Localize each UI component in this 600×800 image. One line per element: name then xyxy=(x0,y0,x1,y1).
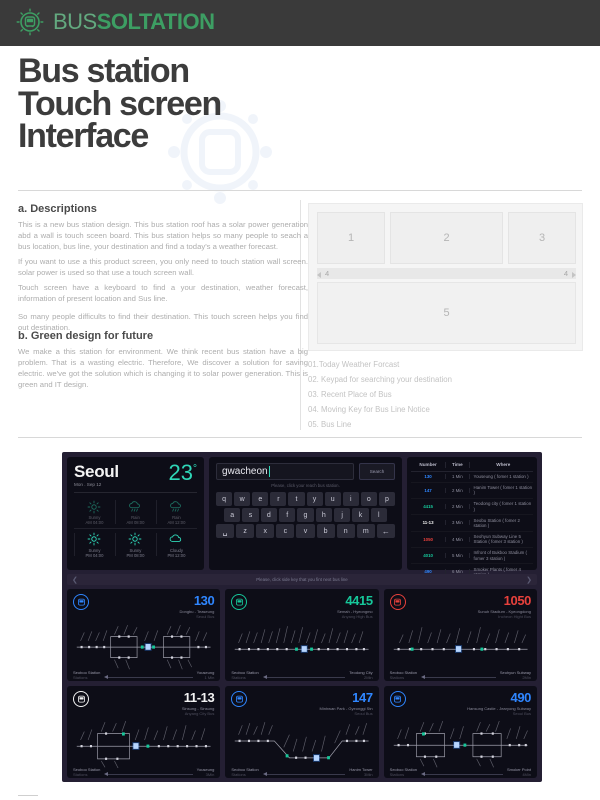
table-row[interactable]: 130 1 Min Youseung ( fomer 1 station ) xyxy=(411,472,533,483)
logo[interactable]: BUSSOLTATION xyxy=(14,6,214,38)
weather-cell[interactable]: SunnyAM 04:00 xyxy=(74,496,115,528)
key-b[interactable]: b xyxy=(317,524,335,538)
weather-widget[interactable]: Seoul Mon . Sep 12 23° SunnyAM 04:00 xyxy=(67,457,204,570)
destination-sub: 2Min xyxy=(349,676,372,681)
bus-line-row: 130 Dongbu - TeaseungSeoul Bus xyxy=(67,589,537,681)
key-y[interactable]: y xyxy=(307,492,323,506)
origin-label: Seoboo StationStations xyxy=(231,768,258,778)
bus-type: Incheon Hight Bus xyxy=(478,614,531,619)
section-green-design: b. Green design for future We make a thi… xyxy=(18,330,308,395)
card-title-group: 1050 Sunuh Stadium - KyeongdongIncheon H… xyxy=(478,594,531,619)
search-input-value: gwacheon xyxy=(222,466,268,477)
card-footer: Seoboo StationStations Smoker Point4Min xyxy=(390,768,531,778)
key-i[interactable]: i xyxy=(343,492,359,506)
keypad-hint: Please, click your reach bus station. xyxy=(216,483,395,488)
weather-cell[interactable]: RainAM 12:00 xyxy=(156,496,197,528)
table-row[interactable]: 4415 2 Min Teodong city ( fomer 1 statio… xyxy=(411,499,533,515)
page-title-line2: Touch screen xyxy=(18,88,438,121)
wireframe-bar-label-right: 4 xyxy=(564,269,568,278)
rain-icon xyxy=(115,499,156,514)
wireframe-box-3: 3 xyxy=(508,212,576,264)
origin-label: Seoboo StationStations xyxy=(73,768,100,778)
bus-line-card[interactable]: 1050 Sunuh Stadium - KyeongdongIncheon H… xyxy=(384,589,537,681)
site-header: BUSSOLTATION xyxy=(0,0,600,46)
weather-cell-label: SunnyPM 08:00 xyxy=(115,548,156,559)
bus-type: Seoul Bus xyxy=(467,711,531,716)
table-row[interactable]: 11-13 3 Min Seobu Station ( fomer 2 stat… xyxy=(411,515,533,531)
slider-track xyxy=(267,677,346,678)
wireframe-box-1: 1 xyxy=(317,212,385,264)
weather-time: PM 04:00 xyxy=(74,553,115,558)
card-footer: Seoboo StationStations Teodong City2Min xyxy=(231,671,372,681)
weather-time: AM 12:00 xyxy=(156,520,197,525)
wireframe-legend: 01.Today Weather Forcast 02. Keypad for … xyxy=(308,357,583,432)
legend-item-3: 03. Recent Place of Bus xyxy=(308,387,583,402)
route-map xyxy=(231,623,372,671)
page-title-line1: Bus station xyxy=(18,55,438,88)
key-backspace[interactable]: ← xyxy=(377,524,395,538)
cloud-icon xyxy=(156,532,197,547)
table-row[interactable]: 4010 5 Min Infront of Bukboo Stadium ( f… xyxy=(411,548,533,564)
key-space[interactable]: ␣ xyxy=(216,524,234,538)
cell-time: 4 Min xyxy=(445,537,469,542)
key-g[interactable]: g xyxy=(297,508,313,522)
weather-time: AM 04:00 xyxy=(74,520,115,525)
route-map xyxy=(73,720,214,768)
column-time: Time xyxy=(445,462,469,468)
cell-where: Seobu Station ( fomer 2 station ) xyxy=(470,518,533,529)
card-title-group: 130 Dongbu - TeaseungSeoul Bus xyxy=(179,594,214,619)
wireframe-top-row: 1 2 3 xyxy=(317,212,576,264)
bus-line-row: 11-13 Sinsung - SinsungAnyang City Bus xyxy=(67,686,537,778)
cell-number: 11-13 xyxy=(411,520,445,525)
divider-bottom xyxy=(18,437,582,438)
keyboard-row: q w e r t y u i o p xyxy=(216,492,395,506)
bus-line-cards: 130 Dongbu - TeaseungSeoul Bus xyxy=(67,589,537,778)
key-u[interactable]: u xyxy=(325,492,341,506)
weather-cell[interactable]: SunnyPM 04:00 xyxy=(74,528,115,561)
search-bar: gwacheon Search xyxy=(216,463,395,480)
bus-line-card[interactable]: 11-13 Sinsung - SinsungAnyang City Bus xyxy=(67,686,220,778)
weather-forecast-grid: SunnyAM 04:00 RainAM 08:00 RainAM 12:00 xyxy=(74,496,197,560)
bus-number: 490 xyxy=(467,691,531,704)
key-e[interactable]: e xyxy=(252,492,268,506)
divider-hint-text: Please, click side key that you fint nex… xyxy=(256,577,348,582)
bus-route: Sinsung - SinsungAnyang City Bus xyxy=(182,706,214,716)
origin-label: Seoboo StationStations xyxy=(390,671,417,681)
key-r[interactable]: r xyxy=(270,492,286,506)
column-where: Where xyxy=(470,462,533,468)
legend-item-1: 01.Today Weather Forcast xyxy=(308,357,583,372)
footer-rule xyxy=(18,795,38,796)
progress-slider[interactable] xyxy=(421,772,503,777)
sun-icon xyxy=(115,532,156,547)
key-j[interactable]: j xyxy=(334,508,350,522)
weather-temp-value: 23 xyxy=(169,460,193,485)
wireframe-arrow-right-icon[interactable] xyxy=(572,272,576,278)
weather-cell[interactable]: CloudyPM 12:00 xyxy=(156,528,197,561)
bus-route: Dongbu - TeaseungSeoul Bus xyxy=(179,609,214,619)
legend-item-2: 02. Keypad for searching your destinatio… xyxy=(308,372,583,387)
bus-type: Seoul Bus xyxy=(179,614,214,619)
table-row[interactable]: 1050 4 Min Seohyun Subway Line 5 Station… xyxy=(411,532,533,548)
wireframe-box-5: 5 xyxy=(317,282,576,344)
section-b-p1: We make a this station for environment. … xyxy=(18,347,308,391)
weather-time: PM 12:00 xyxy=(156,553,197,558)
bus-badge-icon xyxy=(390,594,406,610)
route-text: Semah - Hyeongmo xyxy=(337,609,373,614)
key-c[interactable]: c xyxy=(276,524,294,538)
key-p[interactable]: p xyxy=(379,492,395,506)
key-m[interactable]: m xyxy=(357,524,375,538)
origin-sub: Stations xyxy=(390,676,417,681)
slider-knob[interactable] xyxy=(263,772,267,776)
keyboard-row: ␣ z x c v b n m ← xyxy=(216,524,395,538)
bus-badge-icon xyxy=(73,691,89,707)
weather-date: Mon . Sep 12 xyxy=(74,482,119,487)
legend-item-5: 05. Bus Line xyxy=(308,417,583,432)
section-descriptions: a. Descriptions This is a new bus statio… xyxy=(18,203,308,337)
cell-where: Youseung ( fomer 1 station ) xyxy=(470,474,533,479)
sun-icon xyxy=(74,532,115,547)
destination-sub: 4Min xyxy=(507,773,531,778)
origin-sub: Stations xyxy=(73,676,100,681)
progress-slider[interactable] xyxy=(421,675,496,680)
card-title-group: 4415 Semah - HyeongmoAnyang High Bus xyxy=(337,594,373,619)
chevron-left-icon[interactable]: ❮ xyxy=(72,576,78,584)
cell-where: Seohyun Subway Line 5 Station ( fomer 3 … xyxy=(470,534,533,545)
card-title-group: 11-13 Sinsung - SinsungAnyang City Bus xyxy=(182,691,214,716)
bus-route: Hansung Castle - Jearyong SubwaySeoul Bu… xyxy=(467,706,531,716)
bus-number: 1050 xyxy=(478,594,531,607)
origin-label: Seoboo StationStations xyxy=(231,671,258,681)
bus-badge-icon xyxy=(390,691,406,707)
cell-time: 1 Min xyxy=(445,474,469,479)
weather-header: Seoul Mon . Sep 12 23° xyxy=(74,463,197,487)
bus-line-card[interactable]: 147 Minhwan Park - Gyeonggi StnSeoul Bus xyxy=(225,686,378,778)
wireframe-bar-label-left: 4 xyxy=(325,269,329,278)
bus-badge-icon xyxy=(231,594,247,610)
key-t[interactable]: t xyxy=(288,492,304,506)
route-text: Hansung Castle - Jearyong Subway xyxy=(467,706,531,711)
origin-sub: Stations xyxy=(231,773,258,778)
weather-cell[interactable]: SunnyPM 08:00 xyxy=(115,528,156,561)
destination-label: Seohyun Subway2Min xyxy=(500,671,531,681)
origin-label: Seoboo StationStations xyxy=(390,768,417,778)
cell-time: 5 Min xyxy=(445,553,469,558)
destination-label: Smoker Point4Min xyxy=(507,768,531,778)
destination-sub: 1 Min xyxy=(197,676,215,681)
weather-separator xyxy=(74,492,197,493)
divider-top xyxy=(18,190,582,191)
key-k[interactable]: k xyxy=(352,508,368,522)
table-header: Number Time Where xyxy=(411,462,533,472)
cell-where: Infront of Bukboo Stadium ( fomer 3 stat… xyxy=(470,550,533,561)
touchscreen-panel: Seoul Mon . Sep 12 23° SunnyAM 04:00 xyxy=(62,452,542,782)
weather-degree-symbol: ° xyxy=(193,464,197,475)
wireframe-arrow-left-icon[interactable] xyxy=(317,272,321,278)
key-d[interactable]: d xyxy=(261,508,277,522)
card-header: 490 Hansung Castle - Jearyong SubwaySeou… xyxy=(390,691,531,716)
section-a-heading: a. Descriptions xyxy=(18,203,308,215)
bus-route: Minhwan Park - Gyeonggi StnSeoul Bus xyxy=(320,706,373,716)
key-q[interactable]: q xyxy=(216,492,232,506)
cell-where: Teodong city ( fomer 1 station ) xyxy=(470,501,533,512)
weather-cell-label: CloudyPM 12:00 xyxy=(156,548,197,559)
wireframe-box-2: 2 xyxy=(390,212,503,264)
key-f[interactable]: f xyxy=(279,508,295,522)
keyboard-row: a s d f g h j k l xyxy=(216,508,395,522)
route-map xyxy=(390,720,531,768)
bus-badge-icon xyxy=(231,691,247,707)
section-a-p1: This is a new bus station design. This b… xyxy=(18,220,308,253)
card-footer: Seoboo StationStations Youseung1 Min xyxy=(73,671,214,681)
key-h[interactable]: h xyxy=(316,508,332,522)
cell-number: 4010 xyxy=(411,553,445,558)
progress-slider[interactable] xyxy=(263,675,346,680)
bus-type: Seoul Bus xyxy=(320,711,373,716)
card-header: 130 Dongbu - TeaseungSeoul Bus xyxy=(73,594,214,619)
slider-knob[interactable] xyxy=(104,675,108,679)
bus-badge-icon xyxy=(73,594,89,610)
cell-time: 2 Min xyxy=(445,504,469,509)
origin-sub: Stations xyxy=(231,676,258,681)
bus-line-card[interactable]: 4415 Semah - HyeongmoAnyang High Bus xyxy=(225,589,378,681)
weather-cell[interactable]: RainAM 08:00 xyxy=(115,496,156,528)
progress-slider[interactable] xyxy=(104,772,192,777)
key-a[interactable]: a xyxy=(224,508,240,522)
key-z[interactable]: z xyxy=(236,524,254,538)
slider-track xyxy=(425,677,496,678)
slider-knob[interactable] xyxy=(263,675,267,679)
cell-number: 4415 xyxy=(411,504,445,509)
slider-knob[interactable] xyxy=(104,772,108,776)
cell-where: Hanim Tower ( fomer 1 station ) xyxy=(470,485,533,496)
weather-cell-label: SunnyAM 04:00 xyxy=(74,515,115,526)
slider-track xyxy=(108,774,192,775)
logo-text-soltation: SOLTATION xyxy=(97,9,215,34)
route-map xyxy=(231,720,372,768)
card-header: 11-13 Sinsung - SinsungAnyang City Bus xyxy=(73,691,214,716)
rain-icon xyxy=(156,499,197,514)
bus-type: Anyang High Bus xyxy=(337,614,373,619)
card-header: 147 Minhwan Park - Gyeonggi StnSeoul Bus xyxy=(231,691,372,716)
bus-number: 147 xyxy=(320,691,373,704)
route-text: Sinsung - Sinsung xyxy=(182,706,214,711)
key-l[interactable]: l xyxy=(371,508,387,522)
cell-time: 3 Min xyxy=(445,520,469,525)
weather-cell-label: RainAM 12:00 xyxy=(156,515,197,526)
weather-temperature: 23° xyxy=(169,463,197,484)
search-input[interactable]: gwacheon xyxy=(216,463,354,480)
key-w[interactable]: w xyxy=(234,492,250,506)
section-a-p2: If you want to use a this product screen… xyxy=(18,257,308,279)
origin-label: Seoboo StationStations xyxy=(73,671,100,681)
destination-label: Youseung3Min xyxy=(197,768,215,778)
card-header: 1050 Sunuh Stadium - KyeongdongIncheon H… xyxy=(390,594,531,619)
card-footer: Seoboo StationStations Seohyun Subway2Mi… xyxy=(390,671,531,681)
legend-item-4: 04. Moving Key for Bus Line Notice xyxy=(308,402,583,417)
route-text: Sunuh Stadium - Kyeongdong xyxy=(478,609,531,614)
bus-number: 4415 xyxy=(337,594,373,607)
card-title-group: 147 Minhwan Park - Gyeonggi StnSeoul Bus xyxy=(320,691,373,716)
keypad-widget: gwacheon Search Please, click your reach… xyxy=(209,457,402,570)
destination-label: Teodong City2Min xyxy=(349,671,372,681)
logo-text-bus: BUS xyxy=(53,9,97,34)
route-map xyxy=(390,623,531,671)
bus-type: Anyang City Bus xyxy=(182,711,214,716)
progress-slider[interactable] xyxy=(104,675,192,680)
key-s[interactable]: s xyxy=(242,508,258,522)
destination-label: Youseung1 Min xyxy=(197,671,215,681)
origin-sub: Stations xyxy=(73,773,100,778)
card-header: 4415 Semah - HyeongmoAnyang High Bus xyxy=(231,594,372,619)
section-a-p3: Touch screen have a keyboard to find a y… xyxy=(18,283,308,305)
wireframe-scroll-bar[interactable]: 4 4 xyxy=(317,268,576,279)
cell-number: 1050 xyxy=(411,537,445,542)
key-v[interactable]: v xyxy=(296,524,314,538)
cell-number: 130 xyxy=(411,474,445,479)
bus-route: Sunuh Stadium - KyeongdongIncheon Hight … xyxy=(478,609,531,619)
route-text: Minhwan Park - Gyeonggi Stn xyxy=(320,706,373,711)
route-map xyxy=(73,623,214,671)
bus-route: Semah - HyeongmoAnyang High Bus xyxy=(337,609,373,619)
search-button[interactable]: Search xyxy=(359,463,395,480)
slider-track xyxy=(267,774,346,775)
weather-time: AM 08:00 xyxy=(115,520,156,525)
progress-slider[interactable] xyxy=(263,772,346,777)
destination-label: Hanim Tower3Min xyxy=(349,768,372,778)
bus-number: 11-13 xyxy=(182,691,214,704)
slider-knob[interactable] xyxy=(421,675,425,679)
virtual-keyboard: q w e r t y u i o p a s d xyxy=(216,492,395,538)
slider-track xyxy=(425,774,503,775)
weather-cell-label: RainAM 08:00 xyxy=(115,515,156,526)
destination-sub: 3Min xyxy=(197,773,215,778)
column-number: Number xyxy=(411,462,445,468)
card-title-group: 490 Hansung Castle - Jearyong SubwaySeou… xyxy=(467,691,531,716)
panel-top-row: Seoul Mon . Sep 12 23° SunnyAM 04:00 xyxy=(67,457,537,570)
page-root: BUSSOLTATION Bus station Touch screen In… xyxy=(0,0,600,800)
page-title: Bus station Touch screen Interface xyxy=(18,55,438,153)
card-footer: Seoboo StationStations Youseung3Min xyxy=(73,768,214,778)
key-n[interactable]: n xyxy=(337,524,355,538)
origin-sub: Stations xyxy=(390,773,417,778)
bus-number: 130 xyxy=(179,594,214,607)
table-row[interactable]: 147 2 Min Hanim Tower ( fomer 1 station … xyxy=(411,483,533,499)
weather-cell-label: SunnyPM 04:00 xyxy=(74,548,115,559)
slider-knob[interactable] xyxy=(421,772,425,776)
weather-time: PM 08:00 xyxy=(115,553,156,558)
slider-track xyxy=(108,677,192,678)
wireframe-diagram: 1 2 3 4 4 5 xyxy=(308,203,583,351)
bus-line-card[interactable]: 130 Dongbu - TeaseungSeoul Bus xyxy=(67,589,220,681)
text-caret xyxy=(269,466,270,477)
key-o[interactable]: o xyxy=(361,492,377,506)
sun-icon xyxy=(74,499,115,514)
chevron-right-icon[interactable]: ❯ xyxy=(526,576,532,584)
section-b-heading: b. Green design for future xyxy=(18,330,308,342)
cell-number: 147 xyxy=(411,488,445,493)
destination-sub: 3Min xyxy=(349,773,372,778)
destination-sub: 2Min xyxy=(500,676,531,681)
card-footer: Seoboo StationStations Hanim Tower3Min xyxy=(231,768,372,778)
cell-time: 2 Min xyxy=(445,488,469,493)
bus-circle-icon xyxy=(14,6,46,38)
weather-city: Seoul xyxy=(74,463,119,480)
route-text: Dongbu - Teaseung xyxy=(179,609,214,614)
key-x[interactable]: x xyxy=(256,524,274,538)
panel-divider-bar[interactable]: ❮ Please, click side key that you fint n… xyxy=(67,574,537,585)
page-title-line3: Interface xyxy=(18,120,438,153)
bus-arrival-table: Number Time Where 130 1 Min Youseung ( f… xyxy=(407,457,537,570)
bus-line-card[interactable]: 490 Hansung Castle - Jearyong SubwaySeou… xyxy=(384,686,537,778)
